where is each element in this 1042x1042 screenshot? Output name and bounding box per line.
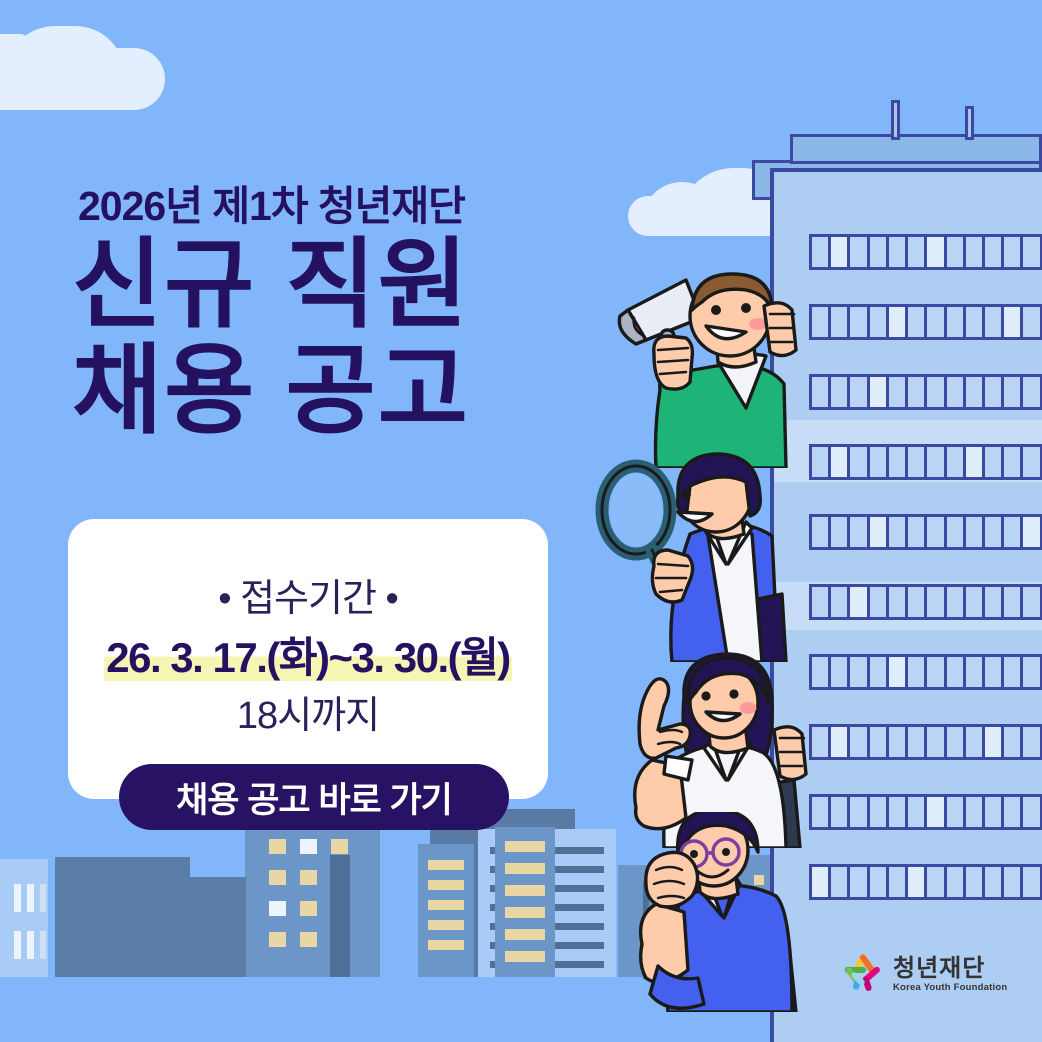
page-title: 신규 직원 채용 공고 xyxy=(72,232,470,444)
info-card: • 접수기간 • 26. 3. 17.(화)~3. 30.(월) 18시까지 xyxy=(68,519,548,799)
tower-window-row xyxy=(809,234,1042,270)
tower-window-row xyxy=(809,374,1042,410)
application-period-label: • 접수기간 • xyxy=(68,567,548,622)
tower-body xyxy=(770,168,1042,1042)
building-dark xyxy=(330,855,350,977)
tower-window-row xyxy=(809,584,1042,620)
character-cheering-man xyxy=(612,812,802,1012)
tower-window-row xyxy=(809,514,1042,550)
building-bars xyxy=(495,827,555,977)
tower-window-row xyxy=(809,654,1042,690)
headline-line-1: 신규 직원 xyxy=(72,232,470,338)
kicker-text: 2026년 제1차 청년재단 xyxy=(78,172,465,232)
building-grid xyxy=(168,877,246,977)
tower-window-row xyxy=(809,304,1042,340)
logo-text-block: 청년재단 Korea Youth Foundation xyxy=(893,956,1007,992)
logo-english-name: Korea Youth Foundation xyxy=(893,982,1007,993)
character-magnifier-woman xyxy=(594,452,794,662)
application-deadline-time: 18시까지 xyxy=(68,684,548,739)
tower-window-row xyxy=(809,444,1042,480)
character-megaphone-man xyxy=(606,258,806,468)
poster-canvas: 2026년 제1차 청년재단 신규 직원 채용 공고 • 접수기간 • 26. … xyxy=(0,0,1042,1042)
dates-highlight: 26. 3. 17.(화)~3. 30.(월) xyxy=(104,634,511,681)
tower-window-row xyxy=(809,724,1042,760)
roof-tier-upper xyxy=(790,134,1042,164)
building-pale xyxy=(0,859,48,977)
organization-logo: 청년재단 Korea Youth Foundation xyxy=(842,952,1007,997)
tower-window-row xyxy=(809,864,1042,900)
cloud-top-left xyxy=(0,48,165,110)
headline-line-2: 채용 공고 xyxy=(72,338,470,444)
tower-window-row xyxy=(809,794,1042,830)
building-bars xyxy=(418,844,474,977)
star-logo-icon xyxy=(842,952,884,997)
apply-now-button[interactable]: 채용 공고 바로 가기 xyxy=(119,764,509,830)
application-period-dates: 26. 3. 17.(화)~3. 30.(월) xyxy=(68,624,548,685)
logo-korean-name: 청년재단 xyxy=(893,956,1007,981)
antenna-right xyxy=(965,106,974,140)
antenna-left xyxy=(891,100,900,140)
